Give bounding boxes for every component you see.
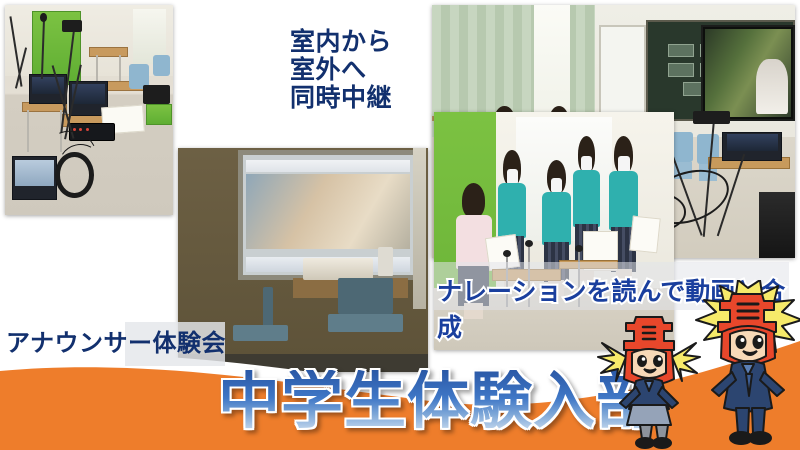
- caption-announcer-text: アナウンサー体験会: [6, 329, 226, 357]
- chair-back: [263, 287, 273, 327]
- caption-line-3: 同時中継: [290, 84, 392, 112]
- wall-post: [413, 148, 426, 309]
- video-preview: [246, 174, 409, 248]
- microphone: [40, 13, 47, 21]
- chair-back: [338, 278, 393, 314]
- monitor-video-feed: [705, 29, 791, 117]
- projector: [303, 258, 373, 280]
- laptop-screen: [727, 134, 778, 151]
- mascot-girl: [596, 305, 702, 450]
- chair: [153, 55, 170, 76]
- board-card: [668, 63, 693, 77]
- script-paper: [629, 215, 661, 253]
- large-monitor: [701, 25, 795, 121]
- video-camera: [62, 20, 82, 33]
- green-panel: [146, 104, 172, 125]
- monitor: [143, 85, 170, 104]
- board-card: [668, 44, 693, 58]
- speaker: [759, 192, 795, 258]
- whiteboard: [599, 25, 646, 116]
- video-camera: [693, 111, 729, 124]
- app-toolbar: [246, 160, 409, 172]
- bottle: [378, 247, 393, 276]
- caption-line-1: 室内から: [290, 28, 392, 56]
- poster-canvas: 室内から 室外へ 同時中継 ナレーションを読んで動画と合成 アナウンサー体験会 …: [0, 0, 800, 450]
- mascot-boy: [690, 280, 800, 450]
- laptop: [722, 132, 782, 162]
- photo-broadcast-studio-setup: [5, 5, 173, 215]
- page-title: 中学生体験入部: [218, 370, 659, 432]
- desk-leg: [27, 110, 29, 152]
- chair: [672, 132, 694, 162]
- monitor-person: [756, 59, 787, 114]
- caption-announcer: アナウンサー体験会: [6, 330, 226, 357]
- caption-indoor-outdoor: 室内から 室外へ 同時中継: [290, 28, 392, 112]
- caption-line-2: 室外へ: [290, 56, 392, 84]
